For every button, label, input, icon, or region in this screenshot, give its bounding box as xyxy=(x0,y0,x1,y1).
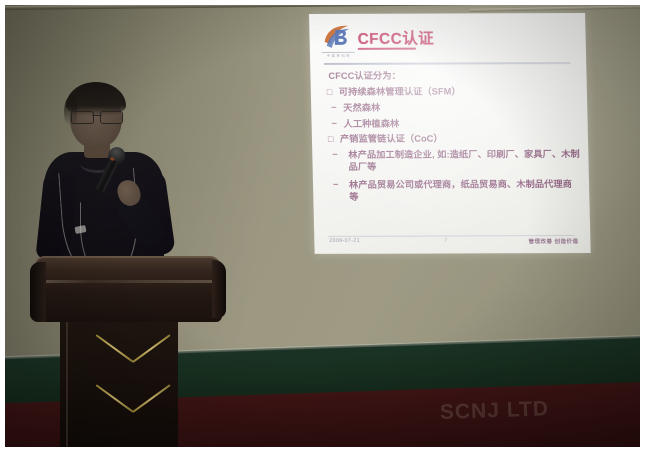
podium-edge-highlight xyxy=(34,280,222,283)
eyeglasses-icon xyxy=(71,111,123,122)
bullet-text: 林产品贸易公司或代理商，纸品贸易商、木制品代理商等 xyxy=(349,178,582,204)
slide-intro-line: CFCC认证分为： xyxy=(328,69,578,82)
slide-bullet: – 人工种植森林 xyxy=(327,117,579,130)
slide-header-rule xyxy=(324,62,570,65)
projected-slide: 中国林科院 CFCC认证 CFCC认证分为： □ 可持续森林管理认证（SFM） … xyxy=(309,13,591,254)
slide-body: CFCC认证分为： □ 可持续森林管理认证（SFM） – 天然森林 – 人工种植… xyxy=(326,69,581,208)
podium xyxy=(30,256,226,452)
eyeglass-lens-left xyxy=(71,111,94,124)
intro-text: CFCC认证分为： xyxy=(328,69,578,82)
speaker-figure xyxy=(18,74,208,284)
dash-marker-icon: – xyxy=(333,178,349,190)
slide-title: CFCC认证 xyxy=(357,27,434,49)
slide-footer-date: 2008-07-21 xyxy=(329,238,360,244)
slide-surface: 中国林科院 CFCC认证 CFCC认证分为： □ 可持续森林管理认证（SFM） … xyxy=(309,13,591,254)
slide-bullet: – 天然森林 xyxy=(327,101,579,114)
podium-desktop xyxy=(34,256,222,322)
checkbox-marker-icon: □ xyxy=(327,86,339,98)
bullet-text: 人工种植森林 xyxy=(343,117,579,130)
dash-marker-icon: – xyxy=(331,117,343,129)
slide-footer-motto: 管理改善 创造价值 xyxy=(528,237,578,245)
slide-bullet: – 林产品加工制造企业, 如:造纸厂、印刷厂、家具厂、木制品厂等 xyxy=(328,148,581,174)
logo-divider xyxy=(322,52,355,53)
slide-bullet: – 林产品贸易公司或代理商，纸品贸易商、木制品代理商等 xyxy=(329,178,582,204)
dash-marker-icon: – xyxy=(331,102,343,114)
logo-subtext: 中国林科院 xyxy=(322,54,356,59)
dash-marker-icon: – xyxy=(332,149,348,161)
bullet-text: 产销监管链认证（CoC） xyxy=(340,132,580,145)
bullet-text: 林产品加工制造企业, 如:造纸厂、印刷厂、家具厂、木制品厂等 xyxy=(348,148,581,174)
photo-canvas: SCNJ LTD 中国林科院 CFCC认证 CFCC认证分为： xyxy=(0,0,645,452)
bullet-text: 天然森林 xyxy=(343,101,579,114)
slide-page-number: 7 xyxy=(444,237,447,243)
podium-seam xyxy=(66,318,68,452)
title-underline xyxy=(358,48,416,50)
checkbox-marker-icon: □ xyxy=(328,133,340,145)
slide-bullet: □ 可持续森林管理认证（SFM） xyxy=(327,85,579,98)
eyeglass-lens-right xyxy=(100,111,123,124)
bullet-text: 可持续森林管理认证（SFM） xyxy=(339,85,579,98)
slide-bullet: □ 产销监管链认证（CoC） xyxy=(328,132,580,145)
podium-column xyxy=(60,316,178,452)
podium-left-edge xyxy=(30,262,46,322)
podium-right-edge xyxy=(212,260,226,318)
photo-watermark: SCNJ LTD xyxy=(440,395,616,431)
